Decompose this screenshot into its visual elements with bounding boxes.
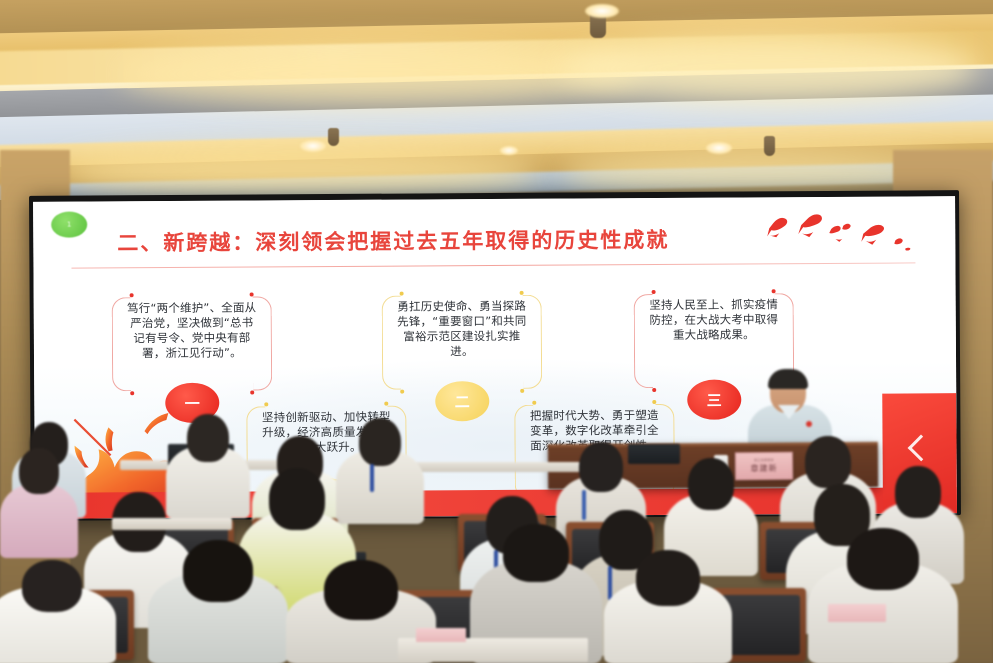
audience-member [604, 550, 732, 663]
audience [0, 400, 993, 663]
card-text: 勇扛历史使命、勇当探路先锋，“重要窗口”和共同富裕示范区建设扎实推进。 [382, 287, 542, 360]
card-text: 坚持人民至上、抓实疫情防控，在大战大考中取得重大战略成果。 [634, 285, 794, 343]
slide-card: 勇扛历史使命、勇当探路先锋，“重要窗口”和共同富裕示范区建设扎实推进。 二 [382, 287, 543, 398]
downlight-icon [585, 4, 619, 18]
pendant-light-icon [328, 128, 339, 146]
ceiling [0, 0, 993, 200]
pendant-light-icon [764, 136, 775, 156]
green-marker-icon: 1 [51, 211, 87, 237]
slide-title: 二、新跨越：深刻领会把握过去五年取得的历史性成就 [117, 224, 669, 257]
audience-member [808, 528, 958, 663]
title-divider [71, 262, 915, 268]
downlight-icon [300, 140, 326, 152]
desk [112, 518, 232, 530]
downlight-icon [500, 146, 518, 155]
name-tag [828, 604, 886, 622]
slide-card: 笃行“两个维护”、全面从严治党，坚决做到“总书记有号令、党中央有部署，浙江见行动… [112, 288, 273, 399]
name-tag [416, 628, 466, 642]
audience-member [0, 560, 116, 663]
flying-birds-icon [765, 210, 915, 257]
card-text: 笃行“两个维护”、全面从严治党，坚决做到“总书记有号令、党中央有部署，浙江见行动… [112, 288, 272, 361]
green-marker-label: 1 [67, 221, 72, 229]
downlight-icon [706, 142, 732, 154]
audience-member [0, 448, 78, 558]
conference-photo: 1 二、新跨越：深刻领会把握过去五年取得的历史性成就 [0, 0, 993, 663]
laptop [628, 444, 680, 464]
audience-member [148, 540, 288, 663]
